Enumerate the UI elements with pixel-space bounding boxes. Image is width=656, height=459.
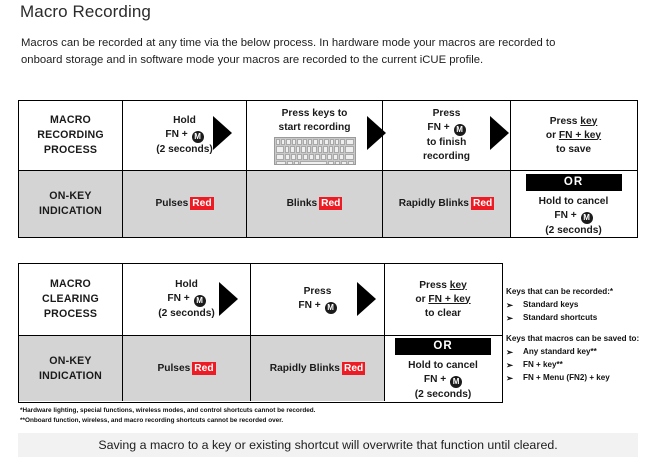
press-text: Press xyxy=(550,116,581,127)
footnote-1: *Hardware lighting, special functions, w… xyxy=(20,406,450,416)
list-item-label: Standard shortcuts xyxy=(523,312,597,324)
row-label-line-3: PROCESS xyxy=(44,307,97,322)
list-item-label: Any standard key** xyxy=(523,346,597,358)
recording-process-row: MACRO RECORDING PROCESS Hold FN + M (2 s… xyxy=(19,101,637,171)
step-line-1: Hold xyxy=(175,278,198,292)
m-key-icon: M xyxy=(581,212,593,224)
bottom-banner-text: Saving a macro to a key or existing shor… xyxy=(98,438,557,452)
indication-label: Rapidly Blinks xyxy=(399,198,469,209)
fn-key-underlined: FN + key xyxy=(559,130,601,141)
red-badge: Red xyxy=(342,362,365,375)
indication-rapidly-blinks-red: Rapidly BlinksRed xyxy=(251,336,385,401)
press-text: Press xyxy=(419,280,450,291)
step-press-key-save-bottom: OR Hold to cancel FN + M (2 seconds) xyxy=(511,171,636,237)
arrow-bullet-icon: ➢ xyxy=(506,299,523,311)
step-line-2: start recording xyxy=(279,121,351,135)
list-item-label: FN + key** xyxy=(523,359,563,371)
arrow-bullet-icon: ➢ xyxy=(506,346,523,358)
red-badge: Red xyxy=(192,362,215,375)
row-label-line-2: INDICATION xyxy=(39,204,102,219)
step-line-1: Hold xyxy=(173,114,196,128)
row-label-recording-process: MACRO RECORDING PROCESS xyxy=(19,101,123,170)
step-line-2: FN + M xyxy=(427,121,465,136)
indication-label: Pulses xyxy=(157,363,190,374)
key-underlined: key xyxy=(580,116,597,127)
step-press-key-clear-top: Press key or FN + key to clear xyxy=(385,264,501,335)
list-item-label: FN + Menu (FN2) + key xyxy=(523,372,610,384)
step-line-3: to clear xyxy=(425,307,461,321)
cancel-line-2: FN + M xyxy=(424,373,462,388)
row-label-line-1: MACRO xyxy=(50,277,91,292)
m-key-icon: M xyxy=(454,124,466,136)
m-key-icon: M xyxy=(450,376,462,388)
step-line-1: Press key xyxy=(550,115,598,129)
or-text: or xyxy=(546,130,559,141)
row-label-clearing-process: MACRO CLEARING PROCESS xyxy=(19,264,123,335)
indication-pulses-red: PulsesRed xyxy=(123,171,247,237)
footnote-2: **Onboard function, wireless, and macro … xyxy=(20,416,450,426)
flow-arrow-icon xyxy=(490,116,509,150)
saveable-list: ➢Any standard key** ➢FN + key** ➢FN + Me… xyxy=(506,346,656,384)
indication-rapidly-blinks-red: Rapidly BlinksRed xyxy=(383,171,511,237)
fn-plus-text: FN + xyxy=(424,374,449,385)
m-key-icon: M xyxy=(192,131,204,143)
step-press-key-save-top: Press key or FN + key to save xyxy=(511,101,636,170)
cancel-line-2: FN + M xyxy=(554,209,592,224)
clearing-process-row: MACRO CLEARING PROCESS Hold FN + M (2 se… xyxy=(19,264,502,336)
arrow-bullet-icon: ➢ xyxy=(506,312,523,324)
row-label-line-1: MACRO xyxy=(50,113,91,128)
row-label-on-key-indication: ON-KEY INDICATION xyxy=(19,171,123,237)
macro-recording-table: MACRO RECORDING PROCESS Hold FN + M (2 s… xyxy=(18,100,638,238)
intro-paragraph: Macros can be recorded at any time via t… xyxy=(21,35,559,68)
step-line-3: to save xyxy=(556,143,591,157)
row-label-line-2: RECORDING xyxy=(37,128,104,143)
step-line-3: (2 seconds) xyxy=(156,143,213,157)
or-bar: OR xyxy=(526,174,622,191)
step-line-3: (2 seconds) xyxy=(158,307,215,321)
indication-label: Blinks xyxy=(287,198,318,209)
list-item: ➢FN + Menu (FN2) + key xyxy=(506,372,656,384)
indication-text: BlinksRed xyxy=(287,197,343,211)
row-label-line-2: CLEARING xyxy=(42,292,99,307)
list-item: ➢Standard shortcuts xyxy=(506,312,656,324)
step-line-1: Press xyxy=(304,285,332,299)
indication-text: PulsesRed xyxy=(155,197,213,211)
indication-label: Pulses xyxy=(155,198,188,209)
fn-plus-text: FN + xyxy=(167,293,192,304)
page-title: Macro Recording xyxy=(20,2,151,22)
document-page: Macro Recording Macros can be recorded a… xyxy=(0,0,656,459)
list-item: ➢Standard keys xyxy=(506,299,656,311)
indication-text: Rapidly BlinksRed xyxy=(399,197,494,211)
row-label-line-1: ON-KEY xyxy=(49,189,91,204)
indication-label: Rapidly Blinks xyxy=(270,363,340,374)
fn-plus-text: FN + xyxy=(427,122,452,133)
side-notes: Keys that can be recorded:* ➢Standard ke… xyxy=(506,286,656,385)
step-press-keys-record: Press keys to start recording xyxy=(247,101,383,170)
list-item: ➢Any standard key** xyxy=(506,346,656,358)
flow-arrow-icon xyxy=(357,282,376,316)
fn-plus-text: FN + xyxy=(298,300,323,311)
m-key-icon: M xyxy=(194,295,206,307)
arrow-bullet-icon: ➢ xyxy=(506,372,523,384)
indication-text: PulsesRed xyxy=(157,362,215,376)
step-line-1: Press key xyxy=(419,279,467,293)
macro-clearing-table: MACRO CLEARING PROCESS Hold FN + M (2 se… xyxy=(18,263,503,403)
step-line-2: FN + M xyxy=(165,128,203,143)
row-label-line-3: PROCESS xyxy=(44,143,97,158)
row-label-on-key-indication: ON-KEY INDICATION xyxy=(19,336,123,401)
recordable-heading: Keys that can be recorded:* xyxy=(506,286,656,298)
step-line-2: or FN + key xyxy=(546,129,601,143)
step-line-2: or FN + key xyxy=(415,293,470,307)
or-bar: OR xyxy=(395,338,491,355)
red-badge: Red xyxy=(471,197,494,210)
arrow-bullet-icon: ➢ xyxy=(506,359,523,371)
fn-key-underlined: FN + key xyxy=(428,294,470,305)
keyboard-image xyxy=(274,137,356,165)
red-badge: Red xyxy=(190,197,213,210)
m-key-icon: M xyxy=(325,302,337,314)
bottom-banner: Saving a macro to a key or existing shor… xyxy=(18,433,638,457)
flow-arrow-icon xyxy=(219,282,238,316)
clearing-indication-row: ON-KEY INDICATION PulsesRed Rapidly Blin… xyxy=(19,336,502,401)
fn-plus-text: FN + xyxy=(165,129,190,140)
step-line-2: FN + M xyxy=(298,299,336,314)
indication-blinks-red: BlinksRed xyxy=(247,171,383,237)
step-line-3: to finish xyxy=(427,136,467,150)
flow-arrow-icon xyxy=(367,116,386,150)
recordable-list: ➢Standard keys ➢Standard shortcuts xyxy=(506,299,656,324)
indication-text: Rapidly BlinksRed xyxy=(270,362,365,376)
notes-spacer xyxy=(506,325,656,333)
row-label-line-1: ON-KEY xyxy=(49,354,91,369)
indication-pulses-red: PulsesRed xyxy=(123,336,251,401)
cancel-line-3: (2 seconds) xyxy=(545,224,602,238)
row-label-line-2: INDICATION xyxy=(39,369,102,384)
key-underlined: key xyxy=(450,280,467,291)
saveable-heading: Keys that macros can be saved to: xyxy=(506,333,656,345)
list-item: ➢FN + key** xyxy=(506,359,656,371)
flow-arrow-icon xyxy=(213,116,232,150)
list-item-label: Standard keys xyxy=(523,299,578,311)
red-badge: Red xyxy=(319,197,342,210)
fn-plus-text: FN + xyxy=(554,210,579,221)
cancel-line-1: Hold to cancel xyxy=(539,195,609,209)
recording-indication-row: ON-KEY INDICATION PulsesRed BlinksRed Ra… xyxy=(19,171,637,237)
footnotes: *Hardware lighting, special functions, w… xyxy=(20,406,450,425)
step-press-key-clear-bottom: OR Hold to cancel FN + M (2 seconds) xyxy=(385,336,501,401)
step-line-1: Press keys to xyxy=(282,107,348,121)
step-line-2: FN + M xyxy=(167,292,205,307)
cancel-line-1: Hold to cancel xyxy=(408,359,478,373)
step-line-1: Press xyxy=(433,107,461,121)
step-line-4: recording xyxy=(423,150,470,164)
or-text: or xyxy=(415,294,428,305)
cancel-line-3: (2 seconds) xyxy=(415,388,472,402)
